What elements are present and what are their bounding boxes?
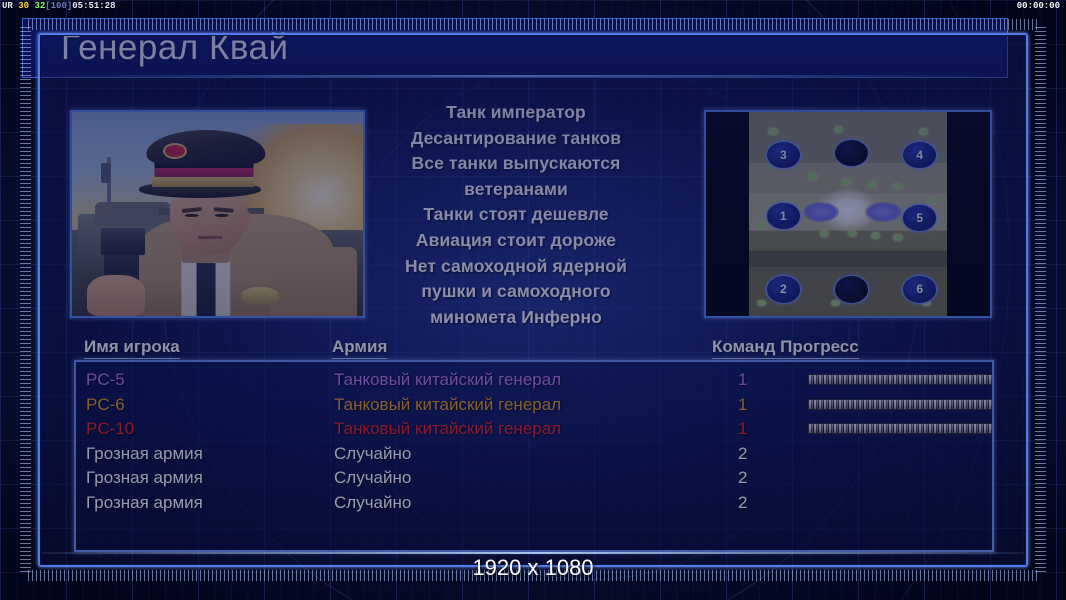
frame-ruler-left [20,27,31,573]
frame-ruler-right [1035,27,1046,573]
net-bracket: [100] [45,1,72,11]
net-value-a: 30 [18,1,29,11]
resolution-label: 1920 x 1080 [0,555,1066,581]
net-prefix: UR [2,1,13,11]
game-clock: 00:00:00 [1017,0,1060,13]
window-frame [18,17,1048,583]
frame-ruler-top [28,19,1038,30]
net-value-b: 32 [34,1,45,11]
footer-divider [42,552,1024,554]
top-status-bar: UR 30 32[100]05:51:28 00:00:00 [0,0,1066,13]
network-stats: UR 30 32[100]05:51:28 [2,0,115,13]
net-time: 05:51:28 [72,1,115,11]
window-frame-inner [38,33,1028,567]
